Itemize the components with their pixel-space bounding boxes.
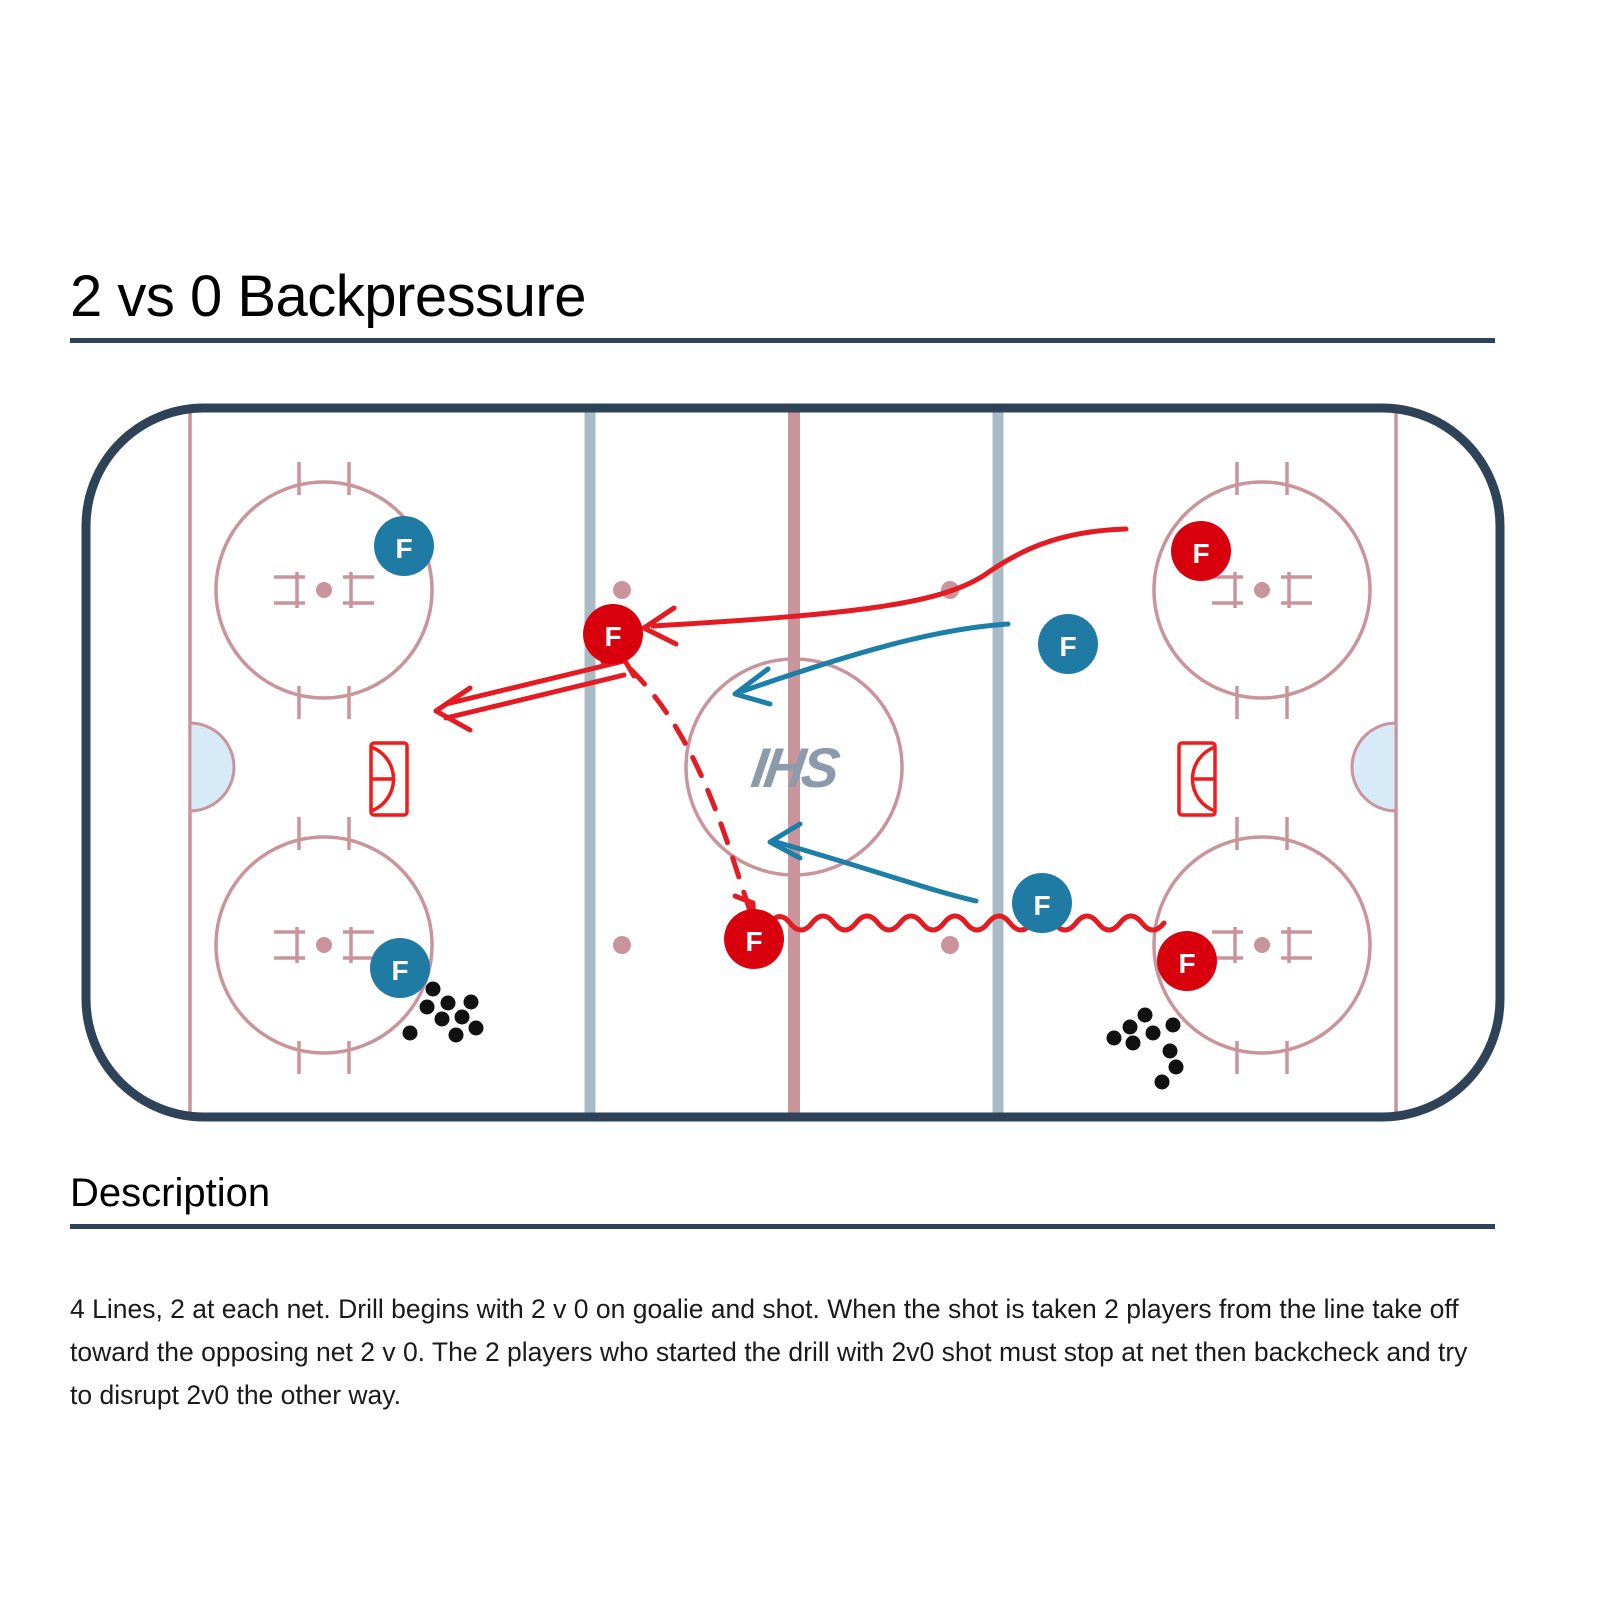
rink-diagram: IHS bbox=[78, 400, 1508, 1125]
player-label: F bbox=[745, 926, 762, 957]
player-red-right-top[interactable]: F bbox=[1171, 521, 1231, 581]
drill-page: 2 vs 0 Backpressure bbox=[0, 0, 1600, 1600]
player-blue-left-top[interactable]: F bbox=[374, 516, 434, 576]
player-blue-right-bottom[interactable]: F bbox=[1012, 873, 1072, 933]
player-red-neutral-bottom[interactable]: F bbox=[724, 909, 784, 969]
rink-canvas: IHS bbox=[78, 400, 1508, 1125]
description-heading: Description bbox=[70, 1172, 1495, 1214]
title-divider bbox=[70, 338, 1495, 343]
player-label: F bbox=[1033, 890, 1050, 921]
player-label: F bbox=[391, 955, 408, 986]
player-label: F bbox=[604, 621, 621, 652]
player-label: F bbox=[1192, 538, 1209, 569]
player-label: F bbox=[1178, 948, 1195, 979]
player-label: F bbox=[1059, 631, 1076, 662]
center-ice-logo: IHS bbox=[748, 736, 844, 799]
player-label: F bbox=[395, 533, 412, 564]
description-block: Description bbox=[70, 1172, 1495, 1229]
title-block: 2 vs 0 Backpressure bbox=[70, 268, 1495, 343]
neutral-dot-bottom-left bbox=[613, 936, 631, 954]
description-divider bbox=[70, 1224, 1495, 1229]
neutral-dot-top-left bbox=[613, 581, 631, 599]
player-red-right-bottom[interactable]: F bbox=[1157, 931, 1217, 991]
description-body: 4 Lines, 2 at each net. Drill begins wit… bbox=[70, 1288, 1490, 1417]
player-blue-left-bottom[interactable]: F bbox=[370, 938, 430, 998]
page-title: 2 vs 0 Backpressure bbox=[70, 268, 1495, 326]
player-blue-right-top[interactable]: F bbox=[1038, 614, 1098, 674]
neutral-dot-bottom-right bbox=[941, 936, 959, 954]
player-red-neutral-top[interactable]: F bbox=[583, 604, 643, 664]
